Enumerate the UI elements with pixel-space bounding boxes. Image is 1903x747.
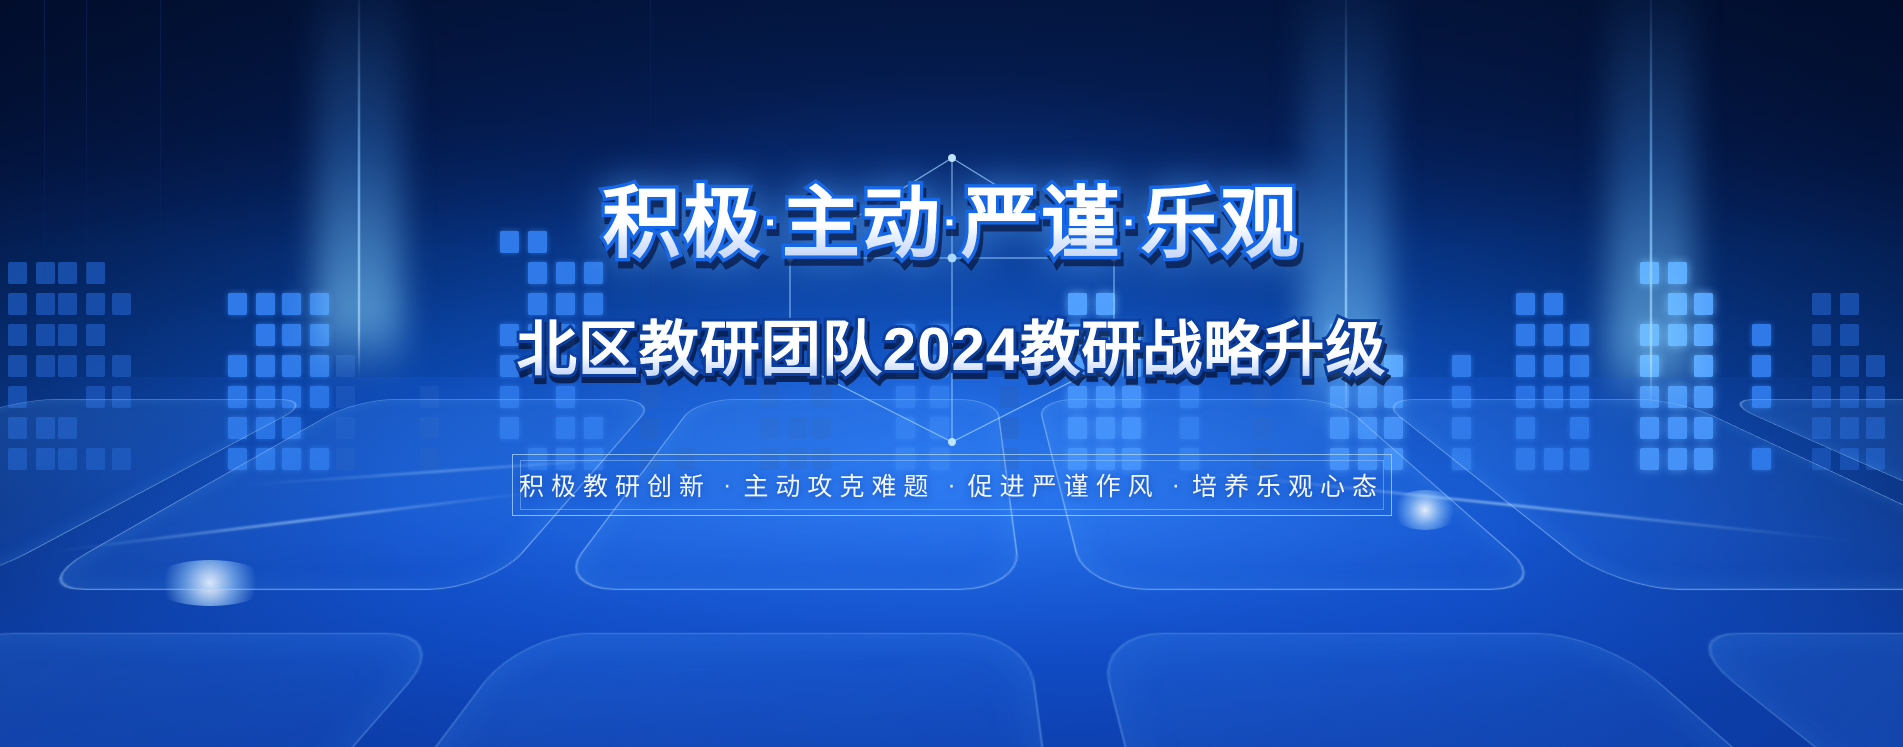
main-title: 积极·主动·严谨·乐观 [0,184,1903,262]
subtitle: 北区教研团队2024教研战略升级 [0,320,1903,380]
banner-canvas: 积极·主动·严谨·乐观 积极·主动·严谨·乐观 北区教研团队2024教研战略升级… [0,0,1903,747]
tagline-text: 积极教研创新·主动攻克难题·促进严谨作风·培养乐观心态 [512,454,1392,516]
banner-content: 积极·主动·严谨·乐观 积极·主动·严谨·乐观 北区教研团队2024教研战略升级… [0,0,1903,747]
tagline-panel: 积极教研创新·主动攻克难题·促进严谨作风·培养乐观心态 [512,454,1392,516]
